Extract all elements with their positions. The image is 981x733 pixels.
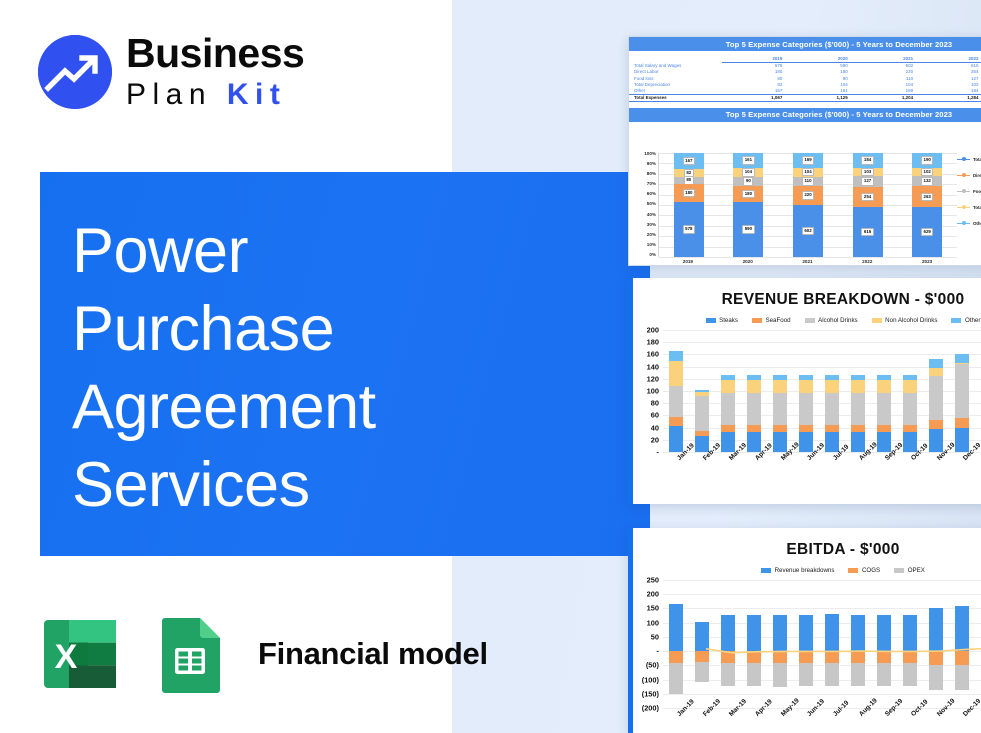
bar-segment: 263 — [912, 186, 942, 207]
bar-value: 132 — [921, 177, 934, 186]
bar-segment — [747, 380, 762, 393]
y-tick: 40% — [632, 212, 656, 217]
bar-stack-negative — [851, 651, 866, 686]
x-tick: 2022 — [852, 259, 882, 264]
bar-stack-negative — [747, 651, 762, 686]
bar-segment — [903, 380, 918, 393]
chart-legend: Revenue breakdownsCOGSOPEX — [633, 567, 981, 574]
x-tick-slot: Nov-19 — [923, 454, 949, 488]
x-tick-slot: Dec-19 — [949, 710, 975, 733]
chart-legend: SteaksSeaFoodAlcohol DrinksNon Alcohol D… — [633, 317, 981, 324]
bar-segment — [903, 651, 918, 663]
table-cell: 1,284 — [918, 94, 981, 101]
stacked-bar: 190102132263629 — [912, 153, 942, 257]
bar-stack-negative — [955, 651, 970, 690]
bar-stack-positive — [773, 375, 788, 452]
y-tick: 30% — [632, 222, 656, 227]
bar-stack-positive — [825, 614, 840, 651]
ebitda-chart-title: EBITDA - $'000 — [633, 528, 981, 559]
bar-segment — [929, 608, 944, 651]
x-tick-slot: Mar-19 — [715, 710, 741, 733]
x-tick-slot: Apr-19 — [741, 454, 767, 488]
bar-column — [975, 330, 981, 452]
bar-segment: 169 — [793, 153, 823, 168]
y-tick: 100 — [647, 618, 659, 627]
bar-stack-positive — [721, 375, 736, 452]
bar-column — [689, 330, 715, 452]
x-tick-slot: May-19 — [767, 454, 793, 488]
bar-segment — [903, 663, 918, 686]
expense-table: 20192020202120222023 Total Salary and Wa… — [629, 55, 981, 102]
legend-item[interactable]: Other — [951, 317, 980, 324]
bars: 1678280180578161104901805901691041102206… — [659, 153, 957, 257]
bar-segment — [825, 651, 840, 663]
bar-column — [923, 580, 949, 708]
x-tick-slot: Oct-19 — [897, 454, 923, 488]
legend-item[interactable]: SeaFood — [752, 317, 791, 324]
x-tick-slot: Jan-19 — [663, 710, 689, 733]
legend-label: SeaFood — [765, 317, 790, 324]
bar-stack-positive — [929, 608, 944, 651]
table-total-row: Total Expenses1,0671,1251,2041,2841,316 — [629, 94, 981, 101]
plot-area — [663, 580, 981, 708]
y-tick: 10% — [632, 242, 656, 247]
bar-value: 615 — [861, 228, 874, 237]
bar-segment — [851, 615, 866, 651]
bar-segment — [773, 663, 788, 687]
y-tick: 40 — [651, 423, 659, 432]
bar-stack-negative — [929, 651, 944, 690]
legend-swatch — [957, 191, 970, 193]
bar-segment — [669, 351, 684, 361]
y-tick: 50 — [651, 632, 659, 641]
bar-value: 180 — [742, 190, 755, 199]
x-tick: 2021 — [792, 259, 822, 264]
legend-label: Total Depreciation — [973, 205, 981, 210]
expense-chart-title: Top 5 Expense Categories ($'000) - 5 Yea… — [629, 108, 981, 122]
legend-item[interactable]: Non Alcohol Drinks — [872, 317, 938, 324]
bar-segment — [747, 393, 762, 425]
y-tick: 80% — [632, 171, 656, 176]
bar-segment: 180 — [733, 186, 763, 203]
legend-item[interactable]: Total Salary and Wages — [957, 157, 981, 162]
y-axis-labels: 100%90%80%70%60%50%40%30%20%10%0% — [632, 151, 656, 257]
bar-segment — [669, 426, 684, 452]
bar-segment — [877, 651, 892, 663]
microsoft-excel-icon: X — [38, 612, 122, 696]
bar-segment: 104 — [793, 168, 823, 177]
bar-segment — [929, 429, 944, 452]
bar-segment: 590 — [733, 202, 763, 257]
bar-segment — [955, 651, 970, 665]
legend-item[interactable]: COGS — [848, 567, 880, 574]
expense-stacked-chart: 100%90%80%70%60%50%40%30%20%10%0% 167828… — [629, 145, 981, 265]
svg-text:X: X — [55, 638, 78, 676]
y-tick: 90% — [632, 161, 656, 166]
bar-stack-positive — [799, 375, 814, 452]
legend-swatch — [752, 318, 762, 323]
bar-stack-positive — [799, 615, 814, 651]
ebitda-card: EBITDA - $'000 Revenue breakdownsCOGSOPE… — [628, 528, 981, 733]
bar-stack-negative — [825, 651, 840, 686]
bar-column — [741, 330, 767, 452]
x-tick: 2023 — [912, 259, 942, 264]
bar-stack-negative — [695, 651, 710, 682]
legend-label: Direct Labor — [973, 173, 981, 178]
plot-area: 1678280180578161104901805901691041102206… — [658, 153, 957, 257]
x-tick: 2020 — [733, 259, 763, 264]
bar-segment: 103 — [853, 168, 883, 176]
bar-column — [949, 330, 975, 452]
x-tick-slot: Sep-19 — [871, 454, 897, 488]
bar-value: 103 — [861, 168, 874, 177]
bar-segment — [799, 615, 814, 651]
bar-value: 220 — [802, 191, 815, 200]
table-cell: 615 — [918, 62, 981, 69]
bar-column — [975, 580, 981, 708]
legend-item[interactable]: Other — [957, 221, 981, 226]
bar-segment — [877, 393, 892, 425]
x-tick-slot: Aug-19 — [845, 454, 871, 488]
bar-segment: 190 — [912, 153, 942, 168]
bar-value: 578 — [683, 225, 696, 234]
stacked-bar: 169104110220602 — [793, 153, 823, 257]
legend-swatch — [706, 318, 716, 323]
bar-segment — [955, 364, 970, 418]
bar-segment: 180 — [674, 184, 704, 201]
bar-segment — [799, 425, 814, 432]
bar-segment — [773, 425, 788, 432]
bar-segment — [747, 432, 762, 452]
legend-label: Steaks — [719, 317, 738, 324]
bar-segment — [877, 663, 892, 686]
revenue-chart-title: REVENUE BREAKDOWN - $'000 — [633, 278, 981, 309]
bar-segment: 602 — [793, 205, 823, 257]
x-tick-slot: Dec-19 — [949, 454, 975, 488]
bar-segment — [747, 425, 762, 432]
legend-label: Revenue breakdowns — [775, 567, 835, 574]
y-tick: (200) — [642, 704, 659, 713]
x-tick-slot: Jun-19 — [793, 710, 819, 733]
bar-column — [741, 580, 767, 708]
bar-segment — [695, 436, 710, 452]
bar-segment: 90 — [733, 177, 763, 185]
bar-stack-positive — [695, 390, 710, 452]
bar-segment — [669, 651, 684, 663]
legend-label: Other — [973, 221, 981, 226]
bar-segment — [773, 651, 788, 663]
bar-stack-positive — [721, 615, 736, 651]
bar-segment: 184 — [853, 153, 883, 168]
bar-stack-positive — [825, 375, 840, 452]
x-tick-slot: Jan-19 — [663, 454, 689, 488]
table-cell: 1,125 — [787, 94, 852, 101]
format-badges: X Financial model — [38, 612, 488, 696]
y-tick: (50) — [646, 661, 659, 670]
table-cell: 578 — [722, 62, 787, 69]
y-tick: 250 — [647, 576, 659, 585]
bar-segment — [929, 368, 944, 377]
column-header: 2019 — [722, 55, 787, 62]
table-cell: 161 — [787, 87, 852, 94]
bar-segment — [747, 615, 762, 651]
plot-wrapper: 20018016014012010080604020- Jan-19Feb-19… — [633, 330, 981, 504]
bar-value: 590 — [742, 225, 755, 234]
bar-column — [793, 580, 819, 708]
bar-value: 169 — [802, 156, 815, 165]
expense-categories-card: Top 5 Expense Categories ($'000) - 5 Yea… — [628, 36, 981, 266]
bar-segment — [695, 396, 710, 431]
bar-segment — [721, 425, 736, 432]
y-tick: (100) — [642, 675, 659, 684]
legend-swatch — [951, 318, 961, 323]
x-tick: 2019 — [673, 259, 703, 264]
bar-segment — [851, 425, 866, 432]
legend-item[interactable]: OPEX — [894, 567, 925, 574]
brand-name-line1: Business — [126, 33, 304, 74]
stacked-bar: 184103127254615 — [853, 153, 883, 257]
y-tick: 80 — [651, 399, 659, 408]
bar-segment — [669, 417, 684, 427]
bar-segment — [721, 432, 736, 452]
bars — [663, 330, 981, 452]
bar-segment: 80 — [674, 177, 704, 185]
legend-swatch — [957, 207, 970, 209]
bar-segment — [955, 418, 970, 428]
x-tick-slot: Apr-19 — [741, 710, 767, 733]
y-tick: - — [657, 448, 659, 457]
bar-stack-positive — [669, 604, 684, 651]
bar-stack-positive — [955, 606, 970, 651]
bar-segment — [669, 361, 684, 387]
bar-segment: 132 — [912, 176, 942, 186]
bar-segment — [851, 432, 866, 452]
bar-segment: 629 — [912, 207, 942, 257]
table-cell: 602 — [853, 62, 918, 69]
bar-stack-positive — [747, 375, 762, 452]
revenue-breakdown-card: REVENUE BREAKDOWN - $'000 SteaksSeaFoodA… — [628, 278, 981, 504]
y-tick: 60 — [651, 411, 659, 420]
bar-value: 127 — [861, 177, 874, 186]
bar-column — [897, 580, 923, 708]
bar-column — [663, 580, 689, 708]
bar-segment — [799, 393, 814, 425]
x-axis-labels: Jan-19Feb-19Mar-19Apr-19May-19Jun-19Jul-… — [663, 454, 981, 488]
bar-column — [715, 330, 741, 452]
bar-segment — [903, 393, 918, 425]
bar-segment — [929, 651, 944, 665]
bar-segment — [773, 380, 788, 393]
bar-segment: 110 — [793, 177, 823, 186]
y-tick: 120 — [647, 374, 659, 383]
bar-column — [871, 580, 897, 708]
bar-stack-negative — [903, 651, 918, 686]
brand-logo: Business Plan Kit — [38, 33, 304, 110]
table-cell: 167 — [722, 87, 787, 94]
x-tick-slot: Nov-19 — [923, 710, 949, 733]
x-tick-slot: Aug-19 — [845, 710, 871, 733]
bars — [663, 580, 981, 708]
bar-column — [715, 580, 741, 708]
legend-item[interactable]: Food loss — [957, 189, 981, 194]
legend-swatch — [761, 568, 771, 573]
y-tick: 0% — [632, 252, 656, 257]
table-header-row: 20192020202120222023 — [629, 55, 981, 62]
table-cell: Other — [629, 87, 722, 94]
bar-segment — [721, 393, 736, 425]
bar-segment — [929, 665, 944, 690]
x-tick-slot: Jun-19 — [793, 454, 819, 488]
legend-item[interactable]: Alcohol Drinks — [805, 317, 858, 324]
table-cell: Total Salary and Wages — [629, 62, 722, 69]
y-axis-labels: 25020015010050-(50)(100)(150)(200) — [633, 580, 661, 708]
stacked-bar: 16110490180590 — [733, 153, 763, 257]
x-tick-slot: Feb-19 — [689, 710, 715, 733]
growth-arrow-icon — [38, 35, 112, 109]
y-tick: 20% — [632, 232, 656, 237]
bar-value: 110 — [802, 177, 814, 186]
bar-segment — [903, 425, 918, 432]
bar-segment: 578 — [674, 202, 704, 257]
bar-segment — [773, 393, 788, 425]
y-tick: - — [657, 647, 659, 656]
bar-segment — [695, 622, 710, 651]
bar-value: 190 — [921, 156, 934, 165]
bar-segment — [799, 380, 814, 393]
financial-model-label: Financial model — [258, 636, 488, 672]
legend-item[interactable]: Revenue breakdowns — [761, 567, 834, 574]
legend-label: Non Alcohol Drinks — [885, 317, 937, 324]
bar-segment — [851, 663, 866, 686]
bar-segment — [773, 432, 788, 452]
bar-segment — [929, 359, 944, 368]
bar-column — [845, 580, 871, 708]
y-tick: 60% — [632, 191, 656, 196]
gridline — [659, 257, 957, 258]
y-tick: 140 — [647, 362, 659, 371]
bar-stack-positive — [929, 359, 944, 452]
y-tick: 100 — [647, 387, 659, 396]
y-tick: 200 — [647, 326, 659, 335]
bar-segment — [825, 663, 840, 686]
bar-segment: 161 — [733, 153, 763, 168]
bar-column — [819, 580, 845, 708]
legend-label: Food loss — [973, 189, 981, 194]
bar-value: 184 — [861, 156, 874, 165]
bar-column — [897, 330, 923, 452]
x-tick-slot: Jul-19 — [819, 710, 845, 733]
y-tick: 200 — [647, 590, 659, 599]
y-tick: 100% — [632, 151, 656, 156]
column-header: 2020 — [787, 55, 852, 62]
bar-stack-positive — [955, 354, 970, 452]
legend-swatch — [848, 568, 858, 573]
brand-name-line2: Plan Kit — [126, 80, 304, 110]
bar-segment: 127 — [853, 176, 883, 186]
bar-segment — [747, 663, 762, 686]
table-cell: 184 — [918, 87, 981, 94]
bar-segment: 104 — [733, 168, 763, 178]
bar-value: 602 — [802, 227, 815, 236]
bar-segment — [955, 606, 970, 651]
legend-item[interactable]: Direct Labor — [957, 173, 981, 178]
bar-segment — [669, 604, 684, 651]
y-tick: 180 — [647, 338, 659, 347]
bar-segment — [773, 615, 788, 651]
legend-swatch — [894, 568, 904, 573]
y-tick: 50% — [632, 201, 656, 206]
bar-segment — [825, 425, 840, 432]
bar-column — [949, 580, 975, 708]
bar-stack-positive — [773, 615, 788, 651]
bar-segment — [695, 662, 710, 682]
bar-column — [793, 330, 819, 452]
x-tick-slot: Feb-19 — [689, 454, 715, 488]
bar-stack-positive — [877, 615, 892, 651]
bar-value: 161 — [742, 156, 755, 165]
page-title: Power Purchase Agreement Services — [72, 212, 632, 524]
bar-segment: 254 — [853, 187, 883, 208]
legend-label: Other — [965, 317, 980, 324]
bar-segment — [929, 376, 944, 419]
bar-segment — [669, 386, 684, 417]
y-tick: 160 — [647, 350, 659, 359]
bar-segment — [903, 432, 918, 452]
bar-segment — [799, 663, 814, 686]
bar-segment: 220 — [793, 186, 823, 205]
legend-swatch — [957, 175, 970, 177]
legend-item[interactable]: Steaks — [706, 317, 738, 324]
bar-segment — [877, 425, 892, 432]
bar-segment — [955, 354, 970, 363]
bar-value: 90 — [743, 177, 753, 186]
bar-column — [871, 330, 897, 452]
bar-segment — [851, 380, 866, 393]
bar-segment — [877, 380, 892, 393]
bar-stack-positive — [695, 622, 710, 651]
legend-label: Alcohol Drinks — [818, 317, 858, 324]
bar-segment — [825, 380, 840, 393]
bar-segment — [721, 651, 736, 663]
bar-column — [767, 330, 793, 452]
chart-legend: Total Salary and WagesDirect LaborFood l… — [957, 157, 981, 237]
y-tick: 70% — [632, 181, 656, 186]
table-row: Other167161169184190 — [629, 87, 981, 94]
bar-stack-positive — [747, 615, 762, 651]
bar-column — [923, 330, 949, 452]
legend-item[interactable]: Total Depreciation — [957, 205, 981, 210]
y-axis-labels: 20018016014012010080604020- — [633, 330, 661, 452]
legend-swatch — [957, 223, 970, 225]
column-header — [629, 55, 722, 62]
bar-stack-positive — [877, 375, 892, 452]
y-tick: (150) — [642, 689, 659, 698]
table-cell: 1,204 — [853, 94, 918, 101]
bar-stack-negative — [721, 651, 736, 686]
brand-plan-word: Plan — [126, 78, 212, 111]
x-tick-slot: Jul-19 — [819, 454, 845, 488]
column-header: 2021 — [853, 55, 918, 62]
bar-stack-positive — [903, 615, 918, 651]
bar-segment — [721, 380, 736, 393]
legend-label: COGS — [862, 567, 880, 574]
bar-segment — [929, 420, 944, 429]
x-axis-labels: 20192020202120222023 — [658, 259, 957, 264]
plot-wrapper: 25020015010050-(50)(100)(150)(200) Jan-1… — [633, 580, 981, 733]
stacked-bar: 1678280180578 — [674, 153, 704, 257]
bar-segment: 167 — [674, 153, 704, 169]
column-header: 2022 — [918, 55, 981, 62]
